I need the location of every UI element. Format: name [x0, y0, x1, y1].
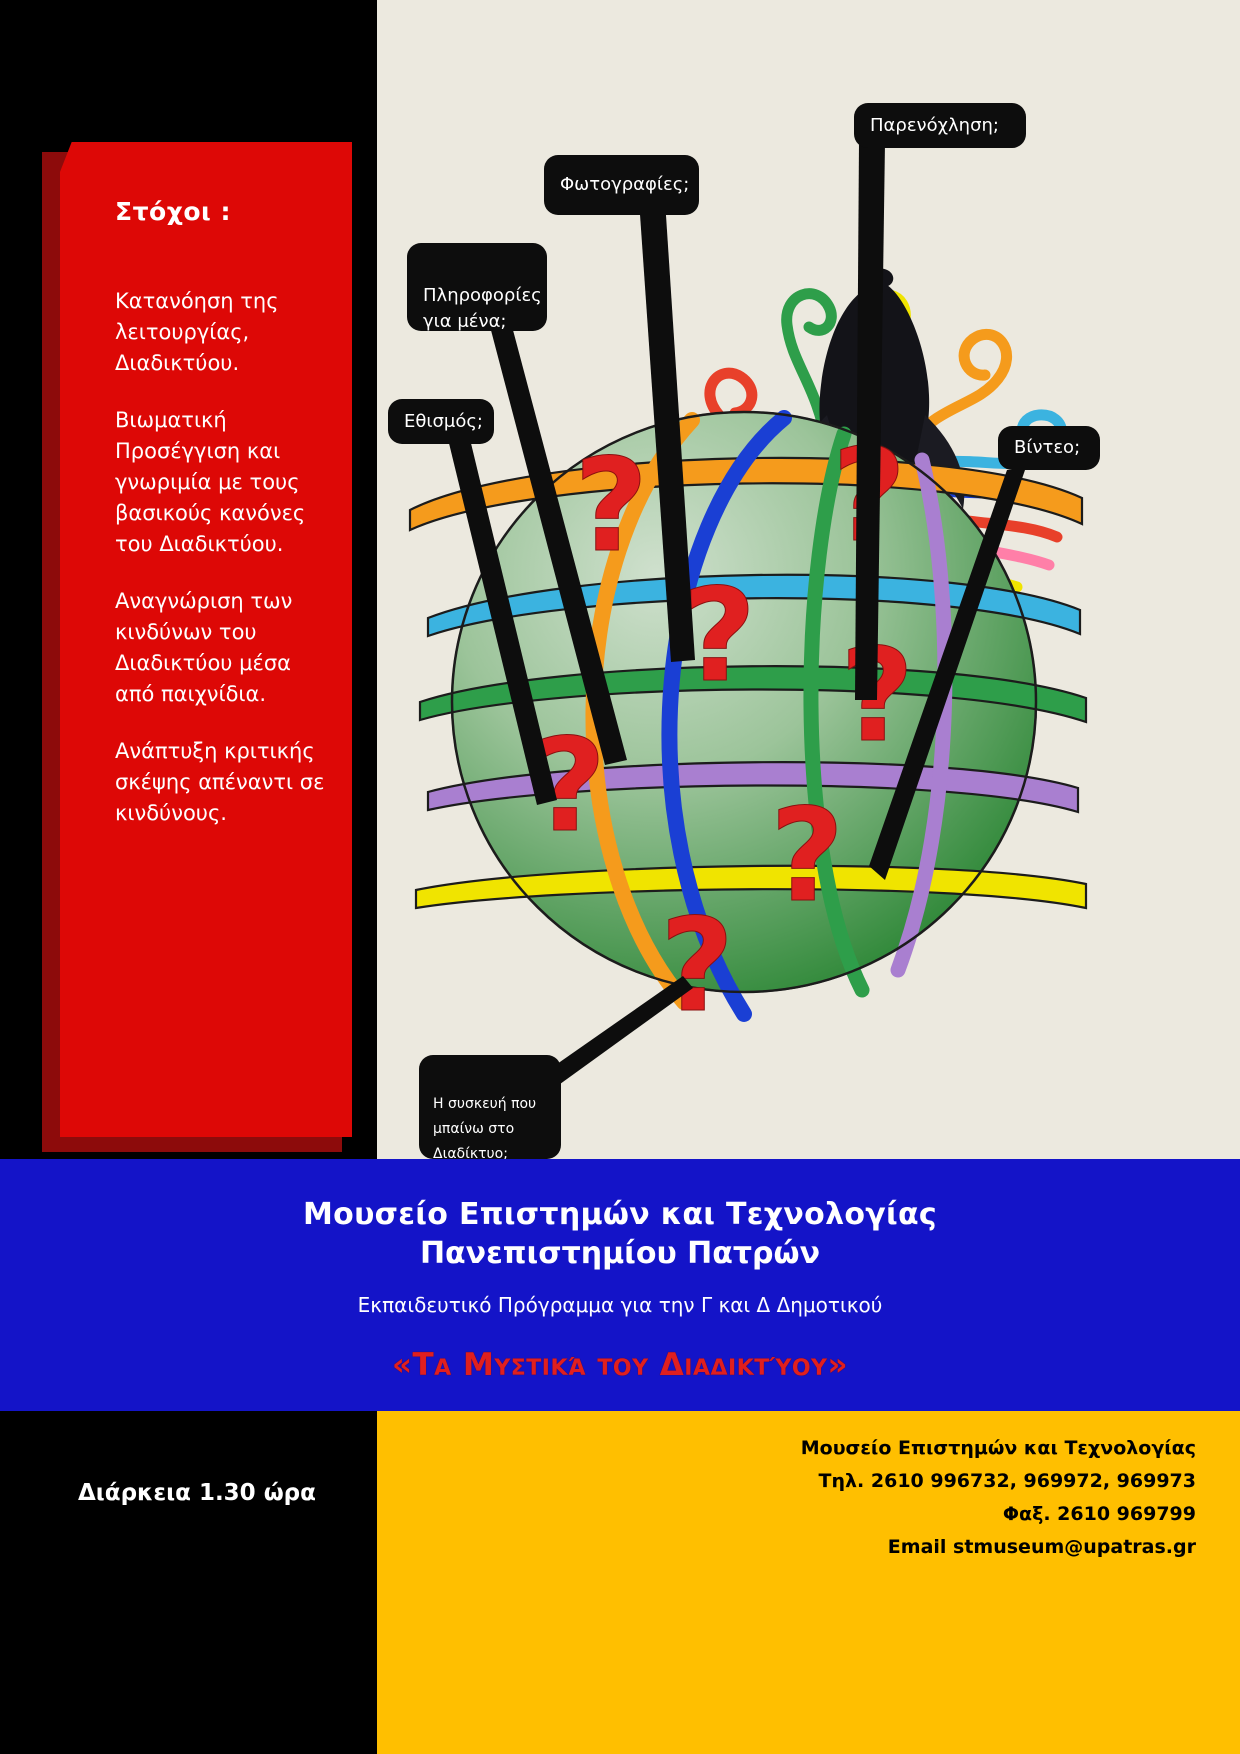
bubble-pointer-lines	[377, 0, 1240, 1159]
museum-name-line2: Πανεπιστημίου Πατρών	[0, 1236, 1240, 1271]
illustration-panel: ? ? ? ? ? ? ? Εθισμός; Πληροφορίες για μ…	[377, 0, 1240, 1159]
goals-panel: Στόχοι : Κατανόηση της λειτουργίας, Διαδ…	[60, 142, 352, 1137]
bubble-harassment-label: Παρενόχληση;	[870, 113, 999, 139]
stem-photos	[639, 200, 695, 662]
contact-fax: Φαξ. 2610 969799	[801, 1498, 1196, 1531]
contact-email[interactable]: Email stmuseum@upatras.gr	[801, 1531, 1196, 1564]
bubble-harassment: Παρενόχληση;	[854, 103, 1026, 148]
stem-harassment	[855, 142, 885, 700]
goal-item: Κατανόηση της λειτουργίας, Διαδικτύου.	[115, 286, 330, 379]
bubble-video: Βίντεο;	[998, 426, 1100, 470]
bubble-photos-label: Φωτογραφίες;	[560, 172, 689, 198]
footer-black-area	[0, 1411, 377, 1754]
stem-video	[869, 470, 1025, 880]
bubble-device-label: Η συσκευή που μπαίνω στο Διαδίκτυο;	[433, 1096, 536, 1159]
goals-title: Στόχοι :	[115, 197, 330, 226]
museum-name-line1: Μουσείο Επιστημών και Τεχνολογίας	[0, 1159, 1240, 1232]
bubble-photos: Φωτογραφίες;	[544, 155, 699, 215]
bubble-device: Η συσκευή που μπαίνω στο Διαδίκτυο;	[419, 1055, 561, 1159]
goal-item: Ανάπτυξη κριτικής σκέψης απέναντι σε κιν…	[115, 736, 330, 829]
contact-block: Μουσείο Επιστημών και Τεχνολογίας Τηλ. 2…	[801, 1432, 1196, 1564]
poster-root: ? ? ? ? ? ? ? Εθισμός; Πληροφορίες για μ…	[0, 0, 1240, 1754]
bubble-video-label: Βίντεο;	[1014, 435, 1080, 461]
goal-item: Βιωματική Προσέγγιση και γνωριμία με του…	[115, 405, 330, 560]
goal-item: Αναγνώριση των κινδύνων του Διαδικτύου μ…	[115, 586, 330, 710]
bubble-info-label: Πληροφορίες για μένα;	[423, 285, 542, 332]
bubble-info: Πληροφορίες για μένα;	[407, 243, 547, 331]
bubble-addiction-label: Εθισμός;	[404, 409, 483, 435]
contact-phone: Τηλ. 2610 996732, 969972, 969973	[801, 1465, 1196, 1498]
program-title: «Τα Μυστικά του Διαδικτύου»	[0, 1347, 1240, 1383]
blue-banner: Μουσείο Επιστημών και Τεχνολογίας Πανεπι…	[0, 1159, 1240, 1411]
program-subtitle: Εκπαιδευτικό Πρόγραμμα για την Γ και Δ Δ…	[0, 1293, 1240, 1317]
stem-info	[487, 315, 627, 765]
contact-org: Μουσείο Επιστημών και Τεχνολογίας	[801, 1432, 1196, 1465]
duration-label: Διάρκεια 1.30 ώρα	[78, 1480, 316, 1506]
bubble-addiction: Εθισμός;	[388, 399, 494, 444]
